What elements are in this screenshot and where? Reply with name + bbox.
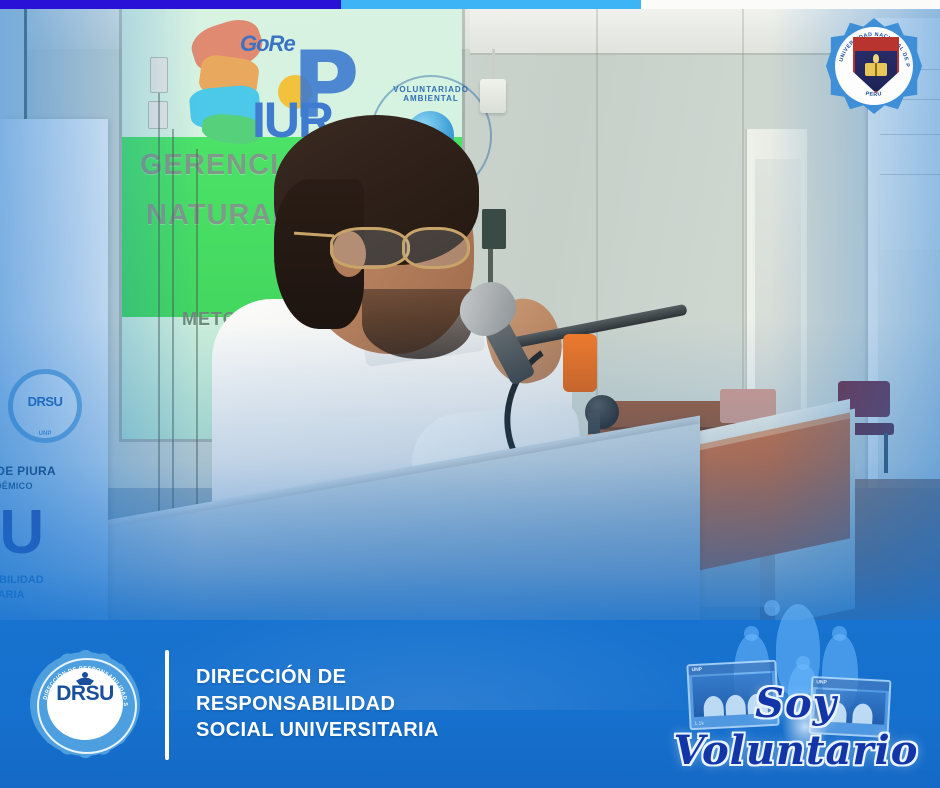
drsu-rollup-banner: DRSU UNP IONAL DE PIURA DO ACADÉMICO SU … [0,119,108,639]
wall-cable [196,149,198,509]
photo-card-1-label: UNP [691,667,702,674]
wall-cable [158,93,160,523]
poster-canvas: GoRe P IUR VOLUNTARIADO AMBIENTAL GERENC… [0,0,940,788]
seal-sub-word: UNP [30,726,140,736]
top-accent-bar [0,0,940,9]
footer-title: DIRECCIÓN DE RESPONSABILIDAD SOCIAL UNIV… [196,664,439,744]
unp-shield-icon: UNIVERSIDAD NACIONAL DE PIURA PERU [826,18,922,114]
accent-segment-indigo [0,0,341,9]
accent-segment-lightblue [341,0,641,9]
soy-voluntario-wordmark: Soy Voluntario [660,680,932,774]
gore-wordmark: GoRe [240,31,295,57]
seal-center-word: DRSU [30,682,140,706]
speaker-beard [362,289,472,359]
badge-label: VOLUNTARIADO AMBIENTAL [372,85,490,103]
footer-title-line-1: DIRECCIÓN DE [196,664,439,691]
banner-line-3: PONSABILIDAD [0,574,44,586]
mic-clamp-orange [563,334,597,392]
soy-voluntario-graphic: UNP 1.1k UNP Soy Voluntario [660,600,932,778]
volunteer-head [764,600,780,616]
banner-seal: DRSU UNP [8,369,82,443]
banner-line-1: IONAL DE PIURA [0,464,56,478]
volunteer-head [796,656,810,670]
banner-line-4: ERSITARIA [0,589,24,601]
banner-seal-word: DRSU [13,394,77,409]
footer-title-line-2: RESPONSABILIDAD [196,691,439,718]
footer-title-line-3: SOCIAL UNIVERSITARIA [196,717,439,744]
eyeglasses-icon [330,227,480,265]
svg-text:PERU: PERU [865,91,883,98]
banner-big-word: SU [0,497,42,568]
projector-arm [492,49,495,81]
footer-divider [165,650,169,760]
wall-cable [172,129,174,519]
drsu-seal: DIRECCIÓN DE RESPONSABILIDAD SOCIAL UNIV… [30,652,140,756]
wall-socket [150,57,168,93]
banner-seal-sub: UNP [13,431,77,437]
volunteer-head [832,626,847,641]
accent-segment-white [641,0,940,9]
volunteer-head [744,626,759,641]
banner-line-2: DO ACADÉMICO [0,481,33,491]
projector-mount [480,79,506,113]
